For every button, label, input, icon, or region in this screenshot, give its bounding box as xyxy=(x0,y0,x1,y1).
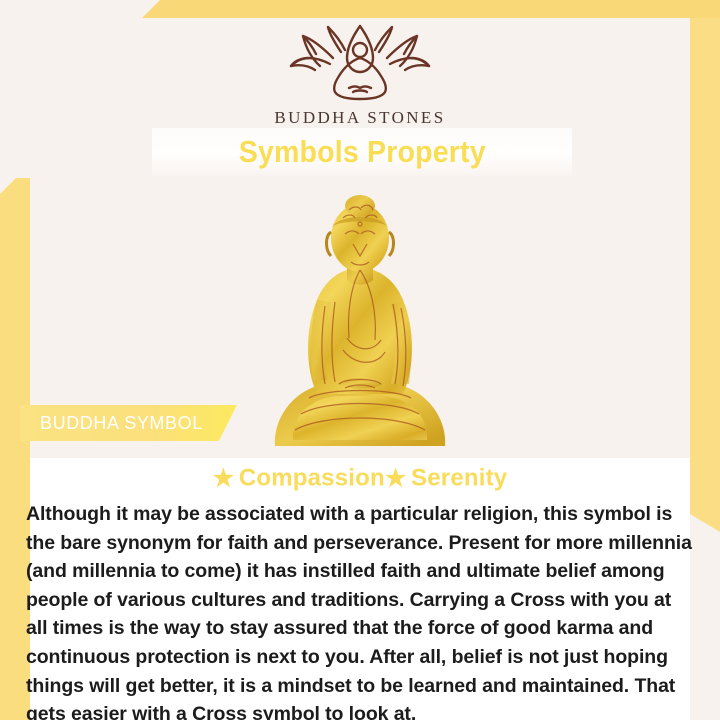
body-paragraph: Although it may be associated with a par… xyxy=(26,500,694,720)
brand-name: BUDDHA STONES xyxy=(0,108,720,128)
poster-root: BUDDHA STONES Symbols Property xyxy=(0,0,720,720)
lotus-meditation-icon xyxy=(275,24,445,102)
attribute-compassion: Compassion xyxy=(239,465,385,492)
attributes-row: ★ Compassion★ Serenity xyxy=(0,464,720,493)
decorative-top-right-bar xyxy=(142,0,720,18)
category-tag-label: BUDDHA SYMBOL xyxy=(40,413,203,434)
category-tag: BUDDHA SYMBOL xyxy=(20,405,237,441)
brand-logo: BUDDHA STONES xyxy=(0,24,720,128)
title-banner: Symbols Property xyxy=(152,128,572,176)
page-title: Symbols Property xyxy=(238,134,485,170)
attribute-serenity: Serenity xyxy=(411,465,507,492)
star-icon: ★ xyxy=(213,465,235,492)
star-icon: ★ xyxy=(385,465,407,492)
golden-seated-buddha-illustration xyxy=(265,188,455,450)
